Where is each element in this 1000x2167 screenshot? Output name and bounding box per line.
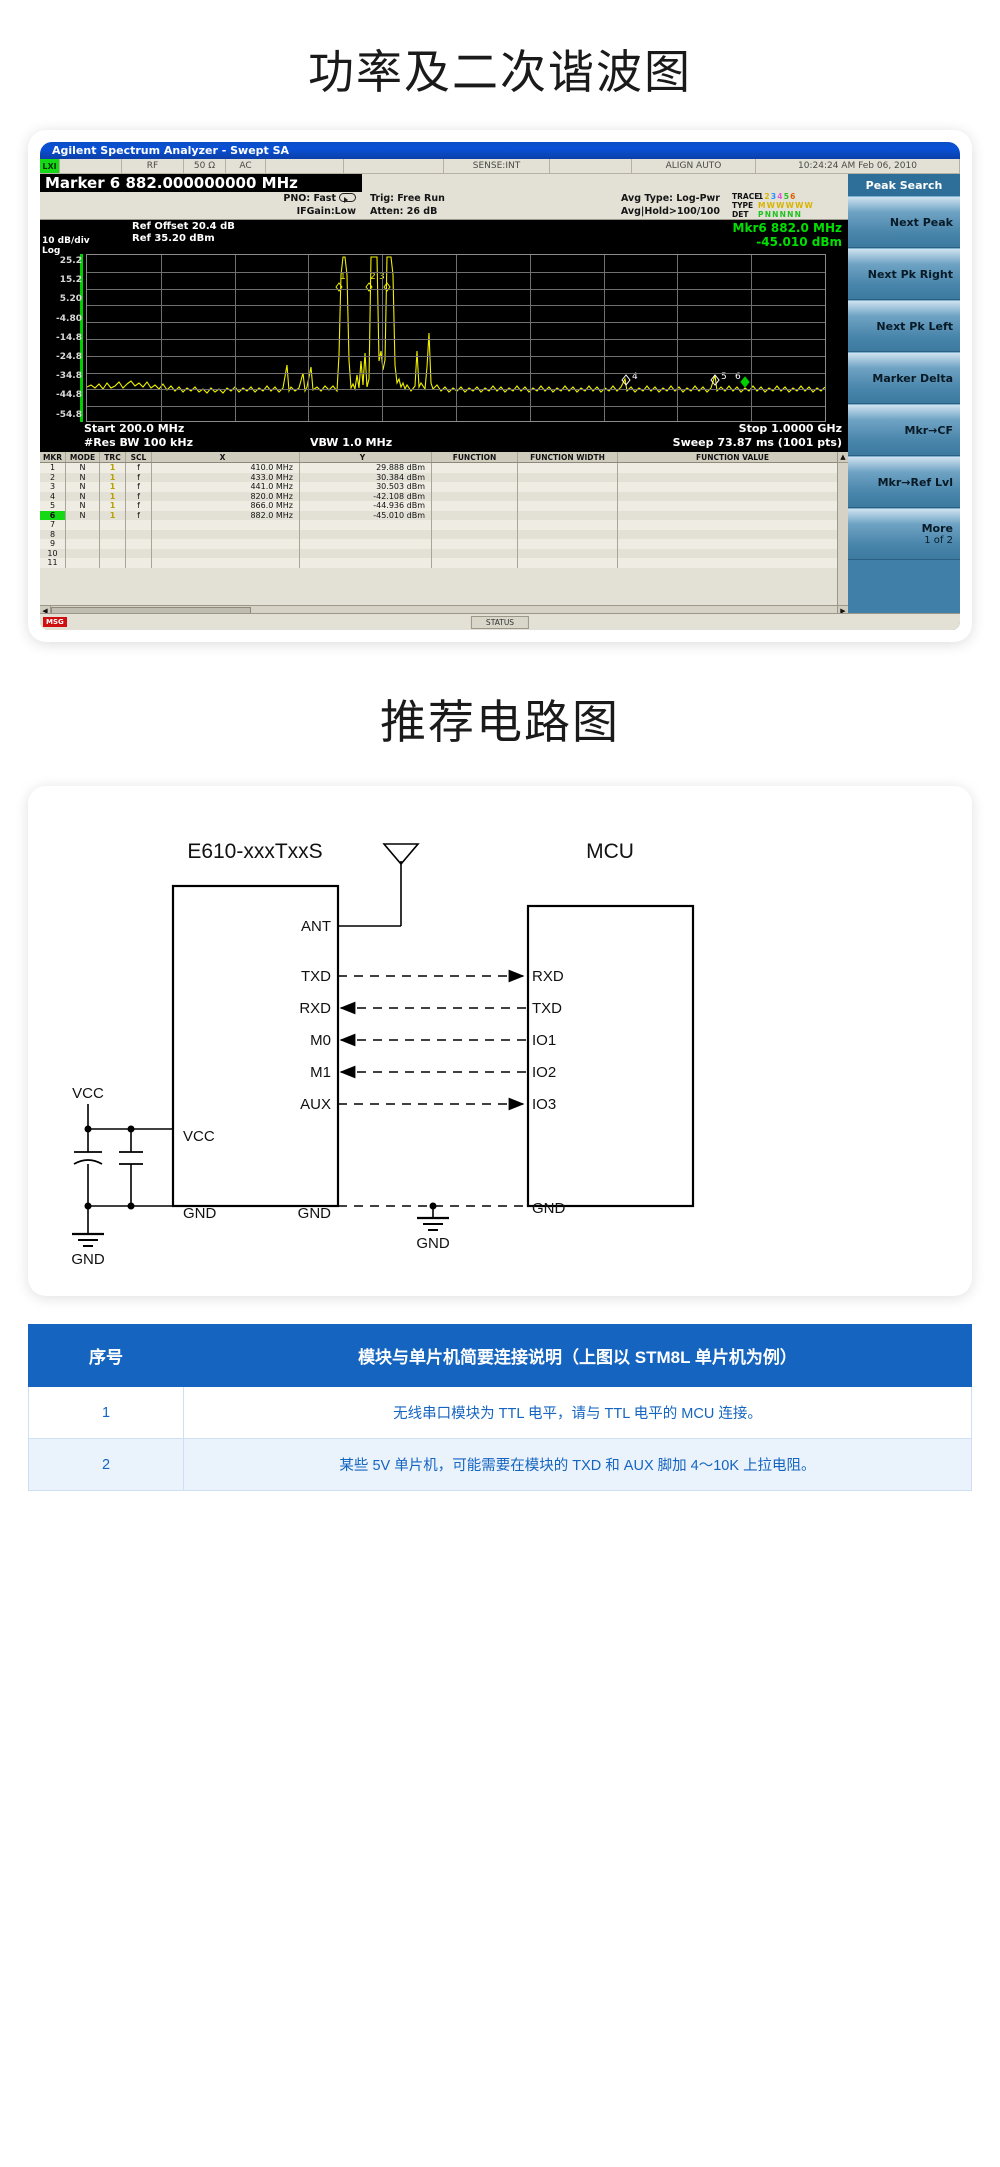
trig-label: Trig: Free Run <box>370 192 494 205</box>
table-cell <box>100 539 126 549</box>
status-cell-blank1 <box>60 159 122 173</box>
det-row: DET PNNNNN <box>732 210 844 219</box>
table-cell <box>432 549 518 559</box>
status-cell-rf: RF <box>122 159 184 173</box>
marker-readout: Mkr6 882.0 MHz -45.010 dBm <box>733 221 842 249</box>
page-title-power-harmonic: 功率及二次谐波图 <box>0 0 1000 130</box>
status-cell-blank4 <box>550 159 632 173</box>
softkey-button[interactable]: Mkr→Ref Lvl <box>848 456 960 508</box>
table-cell: f <box>126 501 152 511</box>
col-function: FUNCTION <box>432 452 518 462</box>
table-cell <box>518 558 618 568</box>
table-cell: 441.0 MHz <box>152 482 300 492</box>
table-cell: 2 <box>40 473 66 483</box>
table-cell: 410.0 MHz <box>152 463 300 473</box>
table-cell: N <box>66 511 100 521</box>
table-cell <box>100 520 126 530</box>
pno-line: PNO: Fast <box>44 192 356 205</box>
analyzer-body: Marker 6 882.000000000 MHz PNO: Fast IFG… <box>40 174 960 630</box>
pin-aux: AUX <box>300 1096 331 1113</box>
softkey-sublabel: 1 of 2 <box>848 535 953 546</box>
table-cell: 6 <box>40 511 66 521</box>
spectrum-analyzer-window: Agilent Spectrum Analyzer - Swept SA LXI… <box>40 142 960 630</box>
res-bw-label: #Res BW 100 kHz <box>84 436 193 449</box>
table-cell-no: 1 <box>29 1387 184 1439</box>
settings-col-trigger: Trig: Free Run Atten: 26 dB <box>362 192 498 219</box>
table-cell <box>618 511 848 521</box>
scroll-up-icon[interactable]: ▲ <box>838 452 848 463</box>
settings-col-average: Avg Type: Log-Pwr Avg|Hold>100/100 <box>498 192 728 219</box>
trace-row: TRACE 123456 <box>732 192 844 201</box>
plot-area[interactable]: 1 2 3 4 5 6 <box>86 254 826 422</box>
marker-6-diamond <box>741 377 749 387</box>
table-cell <box>618 482 848 492</box>
softkey-label: Next Pk Left <box>848 320 953 333</box>
status-cell-coupling: AC <box>226 159 266 173</box>
marker-banner-row: Marker 6 882.000000000 MHz <box>40 174 848 192</box>
table-cell <box>518 520 618 530</box>
y-axis-tick: -4.80 <box>56 314 82 324</box>
pin-txd: TXD <box>301 968 331 985</box>
table-cell: f <box>126 482 152 492</box>
analyzer-display-pane: Marker 6 882.000000000 MHz PNO: Fast IFG… <box>40 174 848 630</box>
sweep-label: Sweep 73.87 ms (1001 pts) <box>673 436 842 449</box>
table-cell <box>66 558 100 568</box>
softkey-button[interactable]: More1 of 2 <box>848 508 960 560</box>
table-cell <box>152 539 300 549</box>
marker-table-body: 1N1f410.0 MHz29.888 dBm2N1f433.0 MHz30.3… <box>40 463 848 568</box>
softkey-menu-title: Peak Search <box>848 174 960 196</box>
table-cell: 882.0 MHz <box>152 511 300 521</box>
circuit-diagram-card: E610-xxxTxxS MCU ANT TXD RXD RXD TXD M0 … <box>28 786 972 1296</box>
table-cell <box>432 482 518 492</box>
table-cell <box>432 501 518 511</box>
connection-info-table: 序号 模块与单片机简要连接说明（上图以 STM8L 单片机为例） 1无线串口模块… <box>28 1324 972 1491</box>
table-cell: 3 <box>40 482 66 492</box>
table-cell <box>432 520 518 530</box>
marker-amp-readout: -45.010 dBm <box>733 235 842 249</box>
pin-m0: M0 <box>310 1032 331 1049</box>
table-cell: 11 <box>40 558 66 568</box>
grid-vline <box>308 255 309 421</box>
softkey-label: Next Peak <box>848 216 953 229</box>
table-cell <box>518 511 618 521</box>
table-cell: 4 <box>40 492 66 502</box>
table-cell: N <box>66 482 100 492</box>
table-cell <box>518 549 618 559</box>
table-cell: N <box>66 463 100 473</box>
table-cell: 30.384 dBm <box>300 473 432 483</box>
trace-label: TRACE <box>732 192 758 201</box>
softkey-label: Mkr→Ref Lvl <box>848 476 953 489</box>
det-values: PNNNNN <box>758 210 802 219</box>
type-row: TYPE MWWWWW <box>732 201 844 210</box>
spectrum-analyzer-card: Agilent Spectrum Analyzer - Swept SA LXI… <box>28 130 972 642</box>
table-cell <box>66 520 100 530</box>
table-cell: f <box>126 492 152 502</box>
module-label: E610-xxxTxxS <box>187 840 322 863</box>
mcu-label: MCU <box>586 840 634 863</box>
settings-col-pno: PNO: Fast IFGain:Low <box>40 192 362 219</box>
table-cell <box>66 539 100 549</box>
table-row[interactable]: 6N1f882.0 MHz-45.010 dBm <box>40 511 848 521</box>
marker-2-label: 2 <box>370 272 376 282</box>
col-function-value: FUNCTION VALUE <box>618 452 848 462</box>
grid-vline <box>161 255 162 421</box>
pin-rxd: RXD <box>299 1000 331 1017</box>
table-cell: 10 <box>40 549 66 559</box>
th-no: 序号 <box>29 1325 184 1387</box>
status-cell-sense: SENSE:INT <box>444 159 550 173</box>
table-cell <box>432 511 518 521</box>
table-cell <box>152 549 300 559</box>
pin-mcu-txd: TXD <box>532 1000 562 1017</box>
softkey-label: Marker Delta <box>848 372 953 385</box>
cap1-plate-bottom <box>74 1160 102 1164</box>
table-cell <box>432 558 518 568</box>
status-bar: LXI RF 50 Ω AC SENSE:INT ALIGN AUTO 10:2… <box>40 159 960 174</box>
scale-block: 10 dB/div Log <box>42 236 90 256</box>
settings-col-trace: TRACE 123456 TYPE MWWWWW DET PNNNNN <box>728 192 848 219</box>
table-cell <box>618 501 848 511</box>
table-cell <box>126 549 152 559</box>
table-cell <box>152 530 300 540</box>
y-axis-tick: -34.8 <box>56 371 82 381</box>
y-axis-tick: 25.2 <box>60 256 82 266</box>
marker-table[interactable]: MKR MODE TRC SCL X Y FUNCTION FUNCTION W… <box>40 452 848 616</box>
det-label: DET <box>732 210 758 219</box>
table-row[interactable]: 4N1f820.0 MHz-42.108 dBm <box>40 492 848 502</box>
softkey-label: More <box>848 522 953 535</box>
pin-gnd-left: GND <box>183 1205 217 1222</box>
table-cell <box>518 473 618 483</box>
pin-vcc: VCC <box>183 1128 215 1145</box>
col-mode: MODE <box>66 452 100 462</box>
pin-mcu-io2: IO2 <box>532 1064 556 1081</box>
marker-1-label: 1 <box>340 272 346 282</box>
status-cell-datetime: 10:24:24 AM Feb 06, 2010 <box>756 159 960 173</box>
grid-vline <box>677 255 678 421</box>
pin-mcu-rxd: RXD <box>532 968 564 985</box>
table-cell <box>518 492 618 502</box>
status-cell-align: ALIGN AUTO <box>632 159 756 173</box>
softkey-button[interactable]: Next Pk Right <box>848 248 960 300</box>
table-cell <box>618 530 848 540</box>
grid-vline <box>604 255 605 421</box>
marker-banner-filler <box>362 174 848 192</box>
pin-mcu-io1: IO1 <box>532 1032 556 1049</box>
table-row[interactable]: 11 <box>40 558 848 568</box>
page-title-circuit: 推荐电路图 <box>0 642 1000 786</box>
table-cell-no: 2 <box>29 1439 184 1491</box>
graph-bottom-row2: #Res BW 100 kHz VBW 1.0 MHz Sweep 73.87 … <box>40 436 848 450</box>
table-cell <box>618 473 848 483</box>
table-cell <box>518 501 618 511</box>
pin-gnd-right: GND <box>298 1205 332 1222</box>
table-cell <box>518 539 618 549</box>
vbw-label: VBW 1.0 MHz <box>310 436 392 449</box>
label-vcc: VCC <box>72 1085 104 1102</box>
pin-mcu-io3: IO3 <box>532 1096 556 1113</box>
table-cell: 1 <box>100 463 126 473</box>
pno-toggle-icon <box>339 193 356 202</box>
table-cell <box>618 549 848 559</box>
start-freq-label: Start 200.0 MHz <box>84 422 184 435</box>
col-function-width: FUNCTION WIDTH <box>518 452 618 462</box>
type-values: MWWWWW <box>758 201 814 210</box>
softkey-label: Next Pk Right <box>848 268 953 281</box>
ifgain-label: IFGain:Low <box>44 205 356 218</box>
softkey-button[interactable]: Marker Delta <box>848 352 960 404</box>
softkey-label: Mkr→CF <box>848 424 953 437</box>
table-row[interactable]: 1N1f410.0 MHz29.888 dBm <box>40 463 848 473</box>
table-cell <box>126 520 152 530</box>
table-cell <box>518 530 618 540</box>
grid-vline <box>751 255 752 421</box>
table-cell: 1 <box>100 482 126 492</box>
type-label: TYPE <box>732 201 758 210</box>
grid-vline <box>530 255 531 421</box>
grid-vline <box>235 255 236 421</box>
lxi-icon: LXI <box>40 159 60 173</box>
table-cell <box>100 549 126 559</box>
table-row[interactable]: 10 <box>40 549 848 559</box>
table-row: 2某些 5V 单片机，可能需要在模块的 TXD 和 AUX 脚加 4～10K 上… <box>29 1439 972 1491</box>
table-cell <box>66 549 100 559</box>
table-row[interactable]: 8 <box>40 530 848 540</box>
table-cell: 866.0 MHz <box>152 501 300 511</box>
table-cell <box>300 530 432 540</box>
avg-type-label: Avg Type: Log-Pwr <box>502 192 720 205</box>
marker-banner: Marker 6 882.000000000 MHz <box>40 174 362 192</box>
y-axis-labels: 25.215.25.20-4.80-14.8-24.8-34.8-44.8-54… <box>42 254 84 424</box>
grid-vline <box>456 255 457 421</box>
table-cell: 29.888 dBm <box>300 463 432 473</box>
pin-ant: ANT <box>301 918 331 935</box>
mcu-box <box>528 906 693 1206</box>
graph-bottom-labels: Start 200.0 MHz Stop 1.0000 GHz #Res BW … <box>40 422 848 452</box>
table-cell: 433.0 MHz <box>152 473 300 483</box>
marker-table-vscrollbar[interactable]: ▲ <box>837 452 848 605</box>
junction-gnd-mid <box>430 1203 437 1210</box>
avg-hold-label: Avg|Hold>100/100 <box>502 205 720 218</box>
y-axis-tick: 15.2 <box>60 275 82 285</box>
pin-mcu-gnd: GND <box>532 1200 566 1217</box>
table-row[interactable]: 7 <box>40 520 848 530</box>
table-cell-desc: 某些 5V 单片机，可能需要在模块的 TXD 和 AUX 脚加 4～10K 上拉… <box>184 1439 972 1491</box>
y-axis-tick: 5.20 <box>60 294 82 304</box>
atten-label: Atten: 26 dB <box>370 205 494 218</box>
table-cell <box>432 530 518 540</box>
y-axis-tick: -24.8 <box>56 352 82 362</box>
table-cell: N <box>66 492 100 502</box>
settings-bar: PNO: Fast IFGain:Low Trig: Free Run Atte… <box>40 192 848 220</box>
marker-freq-readout: Mkr6 882.0 MHz <box>733 221 842 235</box>
table-cell: -45.010 dBm <box>300 511 432 521</box>
table-cell <box>518 463 618 473</box>
window-titlebar: Agilent Spectrum Analyzer - Swept SA <box>40 142 960 159</box>
msg-badge: MSG <box>43 617 67 627</box>
label-gnd-mid: GND <box>416 1235 450 1252</box>
status-cell-blank3 <box>344 159 444 173</box>
status-chip: STATUS <box>471 616 529 629</box>
table-cell: 820.0 MHz <box>152 492 300 502</box>
ref-offset-label: Ref Offset 20.4 dB <box>132 221 235 233</box>
label-gnd-left: GND <box>71 1251 105 1268</box>
softkey-button[interactable]: Mkr→CF <box>848 404 960 456</box>
table-cell <box>518 482 618 492</box>
col-scl: SCL <box>126 452 152 462</box>
col-trc: TRC <box>100 452 126 462</box>
marker-table-header: MKR MODE TRC SCL X Y FUNCTION FUNCTION W… <box>40 452 848 463</box>
softkey-list: Next PeakNext Pk RightNext Pk LeftMarker… <box>848 196 960 560</box>
table-cell: N <box>66 501 100 511</box>
table-cell <box>618 492 848 502</box>
table-cell <box>432 492 518 502</box>
circuit-diagram-svg: E610-xxxTxxS MCU ANT TXD RXD RXD TXD M0 … <box>28 786 972 1296</box>
table-body: 1无线串口模块为 TTL 电平，请与 TTL 电平的 MCU 连接。2某些 5V… <box>29 1387 972 1491</box>
table-cell <box>100 530 126 540</box>
table-cell <box>432 473 518 483</box>
col-y: Y <box>300 452 432 462</box>
table-row[interactable]: 2N1f433.0 MHz30.384 dBm <box>40 473 848 483</box>
table-header-row: 序号 模块与单片机简要连接说明（上图以 STM8L 单片机为例） <box>29 1325 972 1387</box>
analyzer-bottom-bar: MSG STATUS <box>40 613 960 630</box>
softkey-button[interactable]: Next Peak <box>848 196 960 248</box>
table-cell: 1 <box>40 463 66 473</box>
table-cell <box>300 558 432 568</box>
table-cell: f <box>126 463 152 473</box>
spectrum-graph: Ref Offset 20.4 dB Ref 35.20 dBm Mkr6 88… <box>40 220 848 452</box>
table-cell <box>152 558 300 568</box>
pin-m1: M1 <box>310 1064 331 1081</box>
reference-block: Ref Offset 20.4 dB Ref 35.20 dBm <box>132 221 235 245</box>
table-cell: 7 <box>40 520 66 530</box>
table-cell: 1 <box>100 511 126 521</box>
table-cell <box>300 539 432 549</box>
status-cell-impedance: 50 Ω <box>184 159 226 173</box>
table-cell: 8 <box>40 530 66 540</box>
table-cell <box>126 558 152 568</box>
table-cell <box>66 530 100 540</box>
table-row: 1无线串口模块为 TTL 电平，请与 TTL 电平的 MCU 连接。 <box>29 1387 972 1439</box>
pno-label: PNO: Fast <box>283 193 336 204</box>
col-mkr: MKR <box>40 452 66 462</box>
graph-topbar: Ref Offset 20.4 dB Ref 35.20 dBm Mkr6 88… <box>40 220 848 254</box>
table-cell-desc: 无线串口模块为 TTL 电平，请与 TTL 电平的 MCU 连接。 <box>184 1387 972 1439</box>
table-cell <box>100 558 126 568</box>
col-x: X <box>152 452 300 462</box>
table-cell <box>300 520 432 530</box>
table-cell <box>618 463 848 473</box>
y-axis-tick: -44.8 <box>56 390 82 400</box>
table-cell <box>126 539 152 549</box>
table-cell: f <box>126 473 152 483</box>
status-cell-blank2 <box>266 159 344 173</box>
table-cell: f <box>126 511 152 521</box>
table-cell <box>618 539 848 549</box>
y-axis-tick: -54.8 <box>56 410 82 420</box>
softkey-panel: Peak Search Next PeakNext Pk RightNext P… <box>848 174 960 630</box>
table-cell <box>152 520 300 530</box>
db-per-div-label: 10 dB/div <box>42 236 90 246</box>
table-cell <box>126 530 152 540</box>
table-cell <box>432 539 518 549</box>
table-cell <box>618 520 848 530</box>
table-cell <box>432 463 518 473</box>
th-desc: 模块与单片机简要连接说明（上图以 STM8L 单片机为例） <box>184 1325 972 1387</box>
table-cell: N <box>66 473 100 483</box>
table-cell: 1 <box>100 492 126 502</box>
table-row[interactable]: 9 <box>40 539 848 549</box>
table-cell: -42.108 dBm <box>300 492 432 502</box>
table-cell: 30.503 dBm <box>300 482 432 492</box>
table-cell: 1 <box>100 501 126 511</box>
grid-vline <box>382 255 383 421</box>
table-cell <box>618 558 848 568</box>
table-cell <box>300 549 432 559</box>
table-cell: 1 <box>100 473 126 483</box>
stop-freq-label: Stop 1.0000 GHz <box>739 422 842 435</box>
graph-bottom-row1: Start 200.0 MHz Stop 1.0000 GHz <box>40 422 848 436</box>
trace-numbers: 123456 <box>758 192 797 201</box>
softkey-button[interactable]: Next Pk Left <box>848 300 960 352</box>
table-row[interactable]: 3N1f441.0 MHz30.503 dBm <box>40 482 848 492</box>
y-axis-tick: -14.8 <box>56 333 82 343</box>
table-row[interactable]: 5N1f866.0 MHz-44.936 dBm <box>40 501 848 511</box>
junction-gnd-2 <box>128 1203 135 1210</box>
ref-level-label: Ref 35.20 dBm <box>132 233 235 245</box>
table-cell: 9 <box>40 539 66 549</box>
table-cell: 5 <box>40 501 66 511</box>
table-cell: -44.936 dBm <box>300 501 432 511</box>
